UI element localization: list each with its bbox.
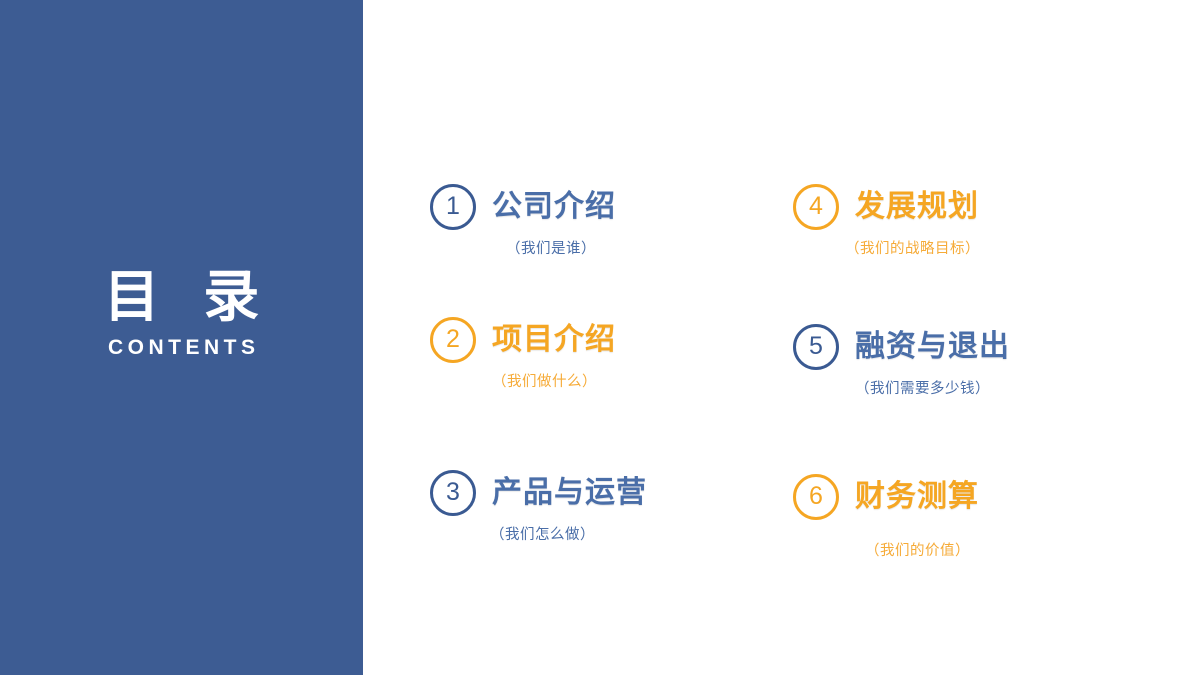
toc-item-2-title: 项目介绍 [492,325,616,355]
contents-list: 1 公司介绍 （我们是谁） 2 项目介绍 （我们做什么） 3 产品与运营 [363,0,1200,675]
toc-item-4-number: 4 [809,194,823,219]
toc-item-6-title: 财务测算 [855,482,979,512]
toc-item-5-title: 融资与退出 [855,332,1010,362]
toc-item-1[interactable]: 1 公司介绍 （我们是谁） [430,182,760,257]
toc-item-5-head: 5 融资与退出 [793,322,1123,372]
toc-item-6-head: 6 财务测算 [793,472,1123,522]
number-circle-icon: 6 [793,474,839,520]
toc-item-1-head: 1 公司介绍 [430,182,760,232]
toc-item-5-number: 5 [809,334,823,359]
toc-item-4-head: 4 发展规划 [793,182,1123,232]
toc-item-5-subtitle: （我们需要多少钱） [855,382,1123,397]
number-circle-icon: 2 [430,317,476,363]
toc-item-3-title: 产品与运营 [492,478,647,508]
toc-item-2-number: 2 [446,327,460,352]
toc-item-5[interactable]: 5 融资与退出 （我们需要多少钱） [793,322,1123,397]
toc-item-3-head: 3 产品与运营 [430,468,760,518]
number-circle-icon: 5 [793,324,839,370]
toc-item-2[interactable]: 2 项目介绍 （我们做什么） [430,315,760,390]
toc-item-1-number: 1 [446,194,460,219]
toc-item-6-number: 6 [809,484,823,509]
page-subtitle-en: CONTENTS [0,336,363,360]
toc-item-3-subtitle: （我们怎么做） [490,528,760,543]
toc-item-3[interactable]: 3 产品与运营 （我们怎么做） [430,468,760,543]
toc-item-3-number: 3 [446,480,460,505]
slide-canvas: 目 录 CONTENTS 1 公司介绍 （我们是谁） 2 项目介绍 （我们做什么 [0,0,1200,675]
toc-item-6[interactable]: 6 财务测算 （我们的价值） [793,472,1123,559]
panel-title-block: 目 录 CONTENTS [0,268,363,360]
number-circle-icon: 1 [430,184,476,230]
toc-item-1-title: 公司介绍 [492,192,616,222]
toc-item-6-subtitle: （我们的价值） [865,544,1123,559]
toc-item-2-subtitle: （我们做什么） [492,375,760,390]
left-blue-panel: 目 录 CONTENTS [0,0,363,675]
toc-item-4-title: 发展规划 [855,192,979,222]
toc-item-4[interactable]: 4 发展规划 （我们的战略目标） [793,182,1123,257]
page-title: 目 录 [0,268,363,327]
number-circle-icon: 3 [430,470,476,516]
toc-item-2-head: 2 项目介绍 [430,315,760,365]
toc-item-4-subtitle: （我们的战略目标） [845,242,1123,257]
toc-item-1-subtitle: （我们是谁） [506,242,760,257]
number-circle-icon: 4 [793,184,839,230]
